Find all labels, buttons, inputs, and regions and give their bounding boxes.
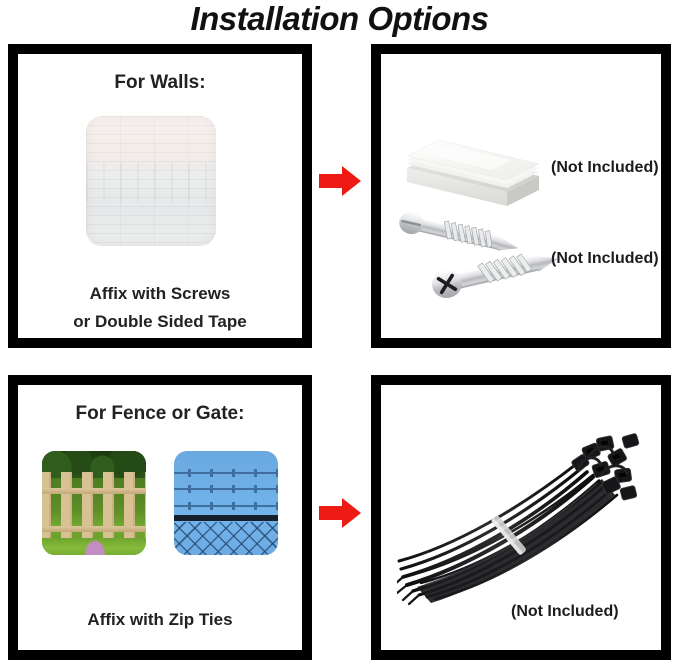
white-brick-wall-swatch-image xyxy=(86,116,216,246)
red-right-arrow-icon xyxy=(319,498,361,528)
panel-wall-hardware: (Not Included) xyxy=(371,44,671,348)
chain-link-mesh xyxy=(174,522,278,555)
garden-path xyxy=(84,539,107,555)
for-fence-heading: For Fence or Gate: xyxy=(18,403,302,425)
fence-rail-top xyxy=(42,488,146,494)
black-zip-tie-bundle-image xyxy=(397,417,647,607)
silver-wood-screws-image xyxy=(393,202,573,312)
fence-top-rail xyxy=(174,515,278,521)
wooden-picket-fence-photo xyxy=(42,451,146,555)
tape-not-included-label: (Not Included) xyxy=(551,159,659,177)
for-walls-caption-line1: Affix with Screws xyxy=(18,284,302,304)
chain-link-barbed-wire-fence-photo xyxy=(174,451,278,555)
panel-for-walls: For Walls: Affix with Screws or Double S… xyxy=(8,44,312,348)
panel-wall-hardware-content: (Not Included) xyxy=(381,54,661,338)
for-fence-caption: Affix with Zip Ties xyxy=(18,610,302,630)
page-title: Installation Options xyxy=(0,0,679,40)
screws-not-included-label: (Not Included) xyxy=(551,250,659,268)
panel-zip-ties-content: (Not Included) xyxy=(381,385,661,650)
barbed-wire-strand xyxy=(174,505,278,507)
panel-zip-ties: (Not Included) xyxy=(371,375,671,660)
panel-for-fence-or-gate: For Fence or Gate: Affix with Zip Ties xyxy=(8,375,312,660)
panel-for-fence-content: For Fence or Gate: Affix with Zip Ties xyxy=(18,385,302,650)
for-walls-caption-line2: or Double Sided Tape xyxy=(18,312,302,332)
panel-for-walls-content: For Walls: Affix with Screws or Double S… xyxy=(18,54,302,338)
zip-ties-not-included-label: (Not Included) xyxy=(511,603,619,621)
barbed-wire-strand xyxy=(174,472,278,474)
barbed-wire-strand xyxy=(174,488,278,490)
picket-slats xyxy=(42,472,146,547)
for-walls-heading: For Walls: xyxy=(18,72,302,94)
red-right-arrow-icon xyxy=(319,166,361,196)
fence-rail-bottom xyxy=(42,526,146,532)
